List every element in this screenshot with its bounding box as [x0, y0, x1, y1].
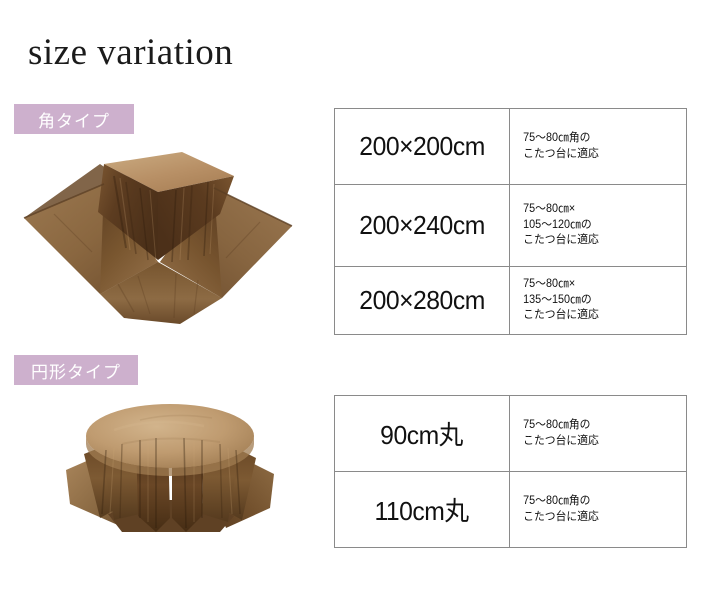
description-line: 75〜80㎝角の — [523, 494, 675, 510]
table-row: 200×200cm 75〜80㎝角の こたつ台に適応 — [335, 109, 687, 185]
description-text: 75〜80㎝角の こたつ台に適応 — [510, 418, 675, 450]
size-table-round: 90cm丸 75〜80㎝角の こたつ台に適応 110cm丸 75〜80㎝角の こ… — [334, 395, 687, 548]
description-line: 135〜150㎝の — [523, 293, 675, 309]
round-kotatsu-photo — [44, 392, 296, 557]
page-title: size variation — [28, 34, 233, 71]
size-cell: 200×280cm — [335, 267, 510, 335]
size-label: 200×280cm — [359, 285, 485, 316]
section-badge-round: 円形タイプ — [14, 355, 138, 385]
description-line: 75〜80㎝× — [523, 202, 675, 218]
square-kotatsu-photo — [8, 142, 308, 332]
table-row: 90cm丸 75〜80㎝角の こたつ台に適応 — [335, 396, 687, 472]
size-cell: 90cm丸 — [335, 396, 510, 472]
description-line: こたつ台に適応 — [523, 434, 675, 450]
description-cell: 75〜80㎝角の こたつ台に適応 — [510, 109, 687, 185]
size-label: 200×240cm — [359, 210, 485, 241]
description-cell: 75〜80㎝× 105〜120㎝の こたつ台に適応 — [510, 185, 687, 267]
size-table-square: 200×200cm 75〜80㎝角の こたつ台に適応 200×240cm 75〜… — [334, 108, 687, 335]
table-row: 200×240cm 75〜80㎝× 105〜120㎝の こたつ台に適応 — [335, 185, 687, 267]
size-label: 200×200cm — [359, 131, 485, 162]
description-text: 75〜80㎝× 135〜150㎝の こたつ台に適応 — [510, 277, 675, 325]
table-row: 200×280cm 75〜80㎝× 135〜150㎝の こたつ台に適応 — [335, 267, 687, 335]
description-line: こたつ台に適応 — [523, 510, 675, 526]
size-cell: 110cm丸 — [335, 472, 510, 548]
description-cell: 75〜80㎝角の こたつ台に適応 — [510, 472, 687, 548]
size-cell: 200×200cm — [335, 109, 510, 185]
description-cell: 75〜80㎝× 135〜150㎝の こたつ台に適応 — [510, 267, 687, 335]
description-text: 75〜80㎝× 105〜120㎝の こたつ台に適応 — [510, 202, 675, 250]
description-line: 75〜80㎝× — [523, 277, 675, 293]
description-line: こたつ台に適応 — [523, 147, 675, 163]
size-label: 90cm丸 — [381, 415, 464, 452]
size-label: 110cm丸 — [375, 491, 469, 528]
description-text: 75〜80㎝角の こたつ台に適応 — [510, 494, 675, 526]
description-line: 105〜120㎝の — [523, 218, 675, 234]
section-badge-square: 角タイプ — [14, 104, 134, 134]
table-row: 110cm丸 75〜80㎝角の こたつ台に適応 — [335, 472, 687, 548]
size-cell: 200×240cm — [335, 185, 510, 267]
description-line: 75〜80㎝角の — [523, 418, 675, 434]
description-text: 75〜80㎝角の こたつ台に適応 — [510, 131, 675, 163]
description-line: こたつ台に適応 — [523, 233, 675, 249]
description-line: 75〜80㎝角の — [523, 131, 675, 147]
description-cell: 75〜80㎝角の こたつ台に適応 — [510, 396, 687, 472]
description-line: こたつ台に適応 — [523, 308, 675, 324]
